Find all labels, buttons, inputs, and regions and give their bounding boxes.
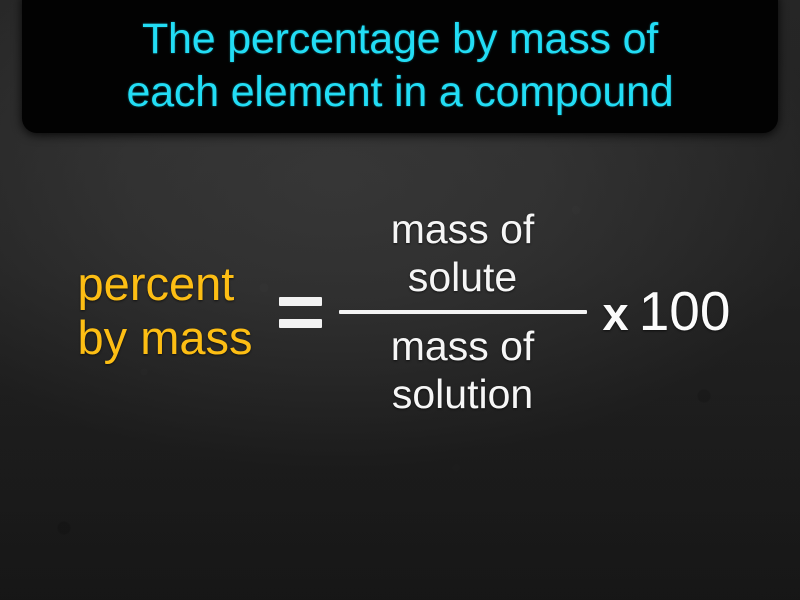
title-line-1: The percentage by mass of [142,13,658,66]
equals-sign-icon [271,288,333,334]
equals-bar-top [279,297,322,306]
slide-canvas: The percentage by mass of each element i… [0,0,800,600]
multiplier-term: x 100 [603,284,731,339]
multiplier-value: 100 [639,284,731,339]
left-term-line-1: percent [78,257,235,311]
equals-bar-bottom [279,319,322,328]
numerator-line-1: mass of [391,205,535,253]
numerator-line-2: solute [391,253,535,301]
fraction-denominator: mass of solution [391,322,535,418]
fraction-numerator: mass of solute [391,205,535,301]
left-term-line-2: by mass [78,311,253,365]
formula-block: percent by mass mass of solute mass of s… [0,196,800,426]
title-banner: The percentage by mass of each element i… [22,0,778,133]
fraction-bar [339,310,587,314]
formula-left-term: percent by mass [78,257,253,365]
multiplication-operator: x [603,290,629,337]
fraction: mass of solute mass of solution [337,205,589,418]
title-line-2: each element in a compound [127,66,674,119]
denominator-line-1: mass of [391,322,535,370]
denominator-line-2: solution [391,370,535,418]
